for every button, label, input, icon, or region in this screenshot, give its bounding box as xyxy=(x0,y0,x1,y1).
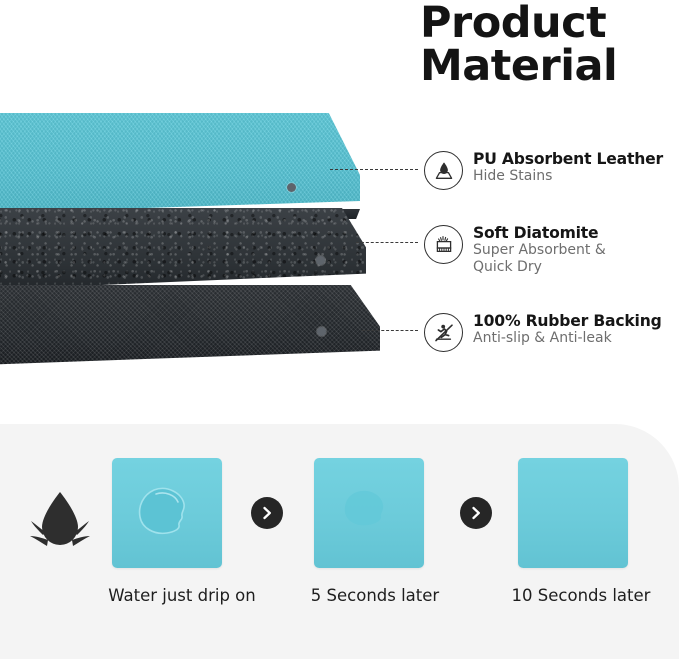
diatomite-layer-face xyxy=(0,208,366,290)
feature-rubber-backing: 100% Rubber Backing Anti-slip & Anti-lea… xyxy=(424,312,676,352)
demo-caption-1: Water just drip on xyxy=(97,586,267,605)
feature-diatomite-sub-1: Super Absorbent & xyxy=(473,242,606,259)
feature-rubber-text: 100% Rubber Backing Anti-slip & Anti-lea… xyxy=(473,312,662,347)
demo-caption-2: 5 Seconds later xyxy=(295,586,455,605)
droplet-on-surface-icon xyxy=(424,151,463,190)
infographic-page: Product Material PU Absorbe xyxy=(0,0,679,659)
diatomite-layer-callout-dot xyxy=(316,256,325,265)
chevron-right-icon xyxy=(251,497,283,529)
leader-line-rubber xyxy=(362,330,418,331)
water-drop-splash-icon xyxy=(22,488,98,570)
pu-layer-callout-dot xyxy=(287,183,296,192)
water-puddle-partial xyxy=(336,484,398,540)
diatomite-block-icon xyxy=(424,225,463,264)
demo-swatch-water-just-drip-on xyxy=(112,458,222,568)
title-line-1: Product xyxy=(420,2,675,45)
title-line-2: Material xyxy=(420,45,675,88)
leader-line-diatomite xyxy=(356,242,418,243)
feature-rubber-sub-1: Anti-slip & Anti-leak xyxy=(473,330,662,347)
page-title: Product Material xyxy=(420,2,675,88)
feature-diatomite-title: Soft Diatomite xyxy=(473,224,606,242)
leader-line-pu xyxy=(330,169,418,170)
chevron-right-icon xyxy=(460,497,492,529)
feature-diatomite-sub-2: Quick Dry xyxy=(473,259,606,276)
feature-rubber-title: 100% Rubber Backing xyxy=(473,312,662,330)
diatomite-layer xyxy=(0,208,366,290)
feature-pu-title: PU Absorbent Leather xyxy=(473,150,663,168)
demo-caption-3: 10 Seconds later xyxy=(498,586,664,605)
pu-layer-face xyxy=(0,113,360,213)
pu-leather-layer xyxy=(0,113,360,213)
water-puddle-full xyxy=(134,484,196,540)
rubber-layer-callout-dot xyxy=(317,327,326,336)
feature-pu-sub-1: Hide Stains xyxy=(473,168,663,185)
feature-diatomite-text: Soft Diatomite Super Absorbent & Quick D… xyxy=(473,224,606,275)
rubber-backing-layer xyxy=(0,285,380,365)
feature-soft-diatomite: Soft Diatomite Super Absorbent & Quick D… xyxy=(424,224,676,275)
feature-pu-text: PU Absorbent Leather Hide Stains xyxy=(473,150,663,185)
no-slip-icon xyxy=(424,313,463,352)
demo-swatch-10-seconds-later xyxy=(518,458,628,568)
demo-swatch-5-seconds-later xyxy=(314,458,424,568)
rubber-layer-face xyxy=(0,285,380,365)
feature-pu-absorbent-leather: PU Absorbent Leather Hide Stains xyxy=(424,150,676,190)
